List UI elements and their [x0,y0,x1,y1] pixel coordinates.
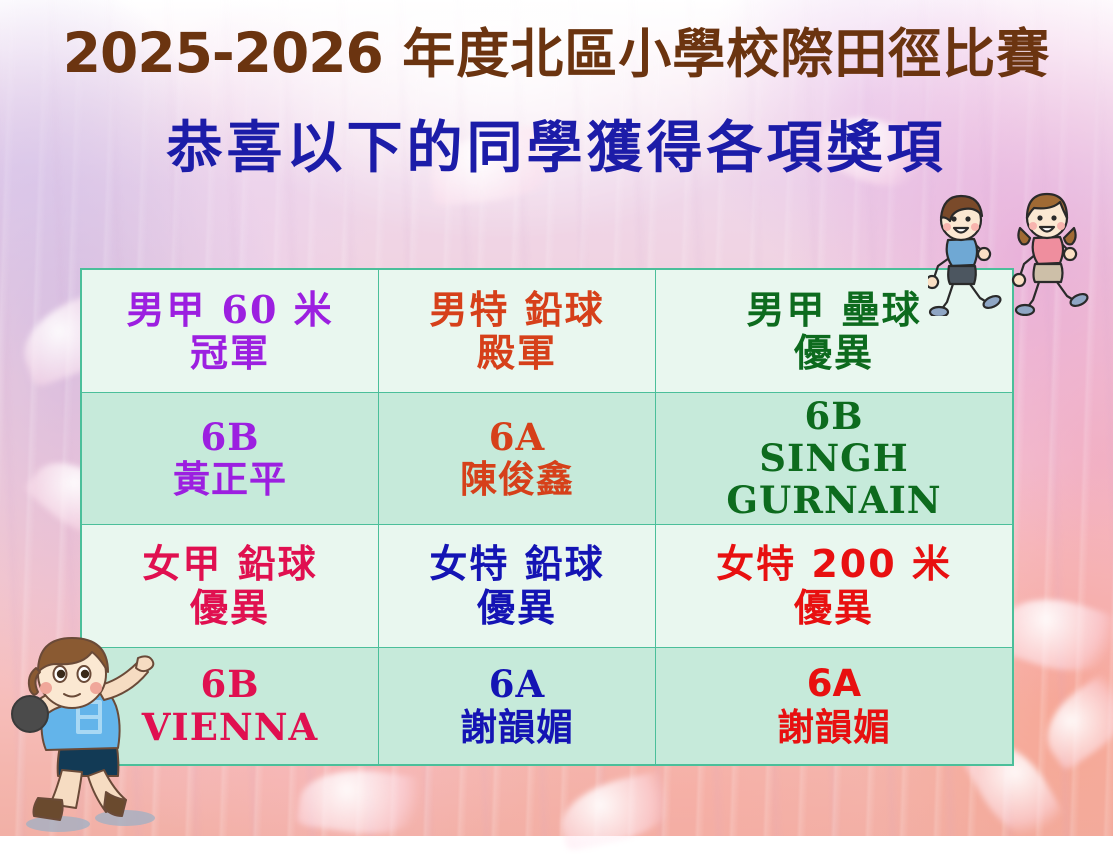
girl-runner-icon [1013,194,1089,315]
event-name-line: 女特 200 米 [660,542,1008,586]
student-class-line: 6A [383,663,651,705]
event-name-line: 女甲 鉛球 [86,542,374,585]
event-name-line: 男特 鉛球 [383,288,651,331]
event-name-line: 女特 鉛球 [383,542,651,585]
award-rank-line: 冠軍 [86,331,374,374]
award-rank-line: 殿軍 [383,331,651,374]
event-cell: 女特 鉛球優異 [379,524,656,647]
student-class-line: 6A [383,416,651,458]
student-name-line: SINGH GURNAIN [660,437,1008,521]
awards-table-body: 男甲 60 米冠軍 男特 鉛球殿軍 男甲 壘球優異 6B黃正平 6A陳俊鑫 6B… [81,269,1013,765]
winner-cell: 6A謝韻媚 [379,647,656,765]
awards-table: 男甲 60 米冠軍 男特 鉛球殿軍 男甲 壘球優異 6B黃正平 6A陳俊鑫 6B… [80,268,1014,766]
award-rank-line: 優異 [660,331,1008,374]
running-children-illustration [928,188,1113,316]
event-cell: 女特 200 米優異 [656,524,1014,647]
student-class-line: 6B [86,416,374,458]
award-rank-line: 優異 [660,586,1008,629]
table-row: 6B黃正平 6A陳俊鑫 6BSINGH GURNAIN [81,393,1013,525]
winner-cell: 6BSINGH GURNAIN [656,393,1014,525]
event-cell: 男甲 60 米冠軍 [81,269,379,393]
winner-cell: 6B黃正平 [81,393,379,525]
student-class-line: 6A [660,663,1008,705]
table-row: 男甲 60 米冠軍 男特 鉛球殿軍 男甲 壘球優異 [81,269,1013,393]
shot-put-boy-illustration: 13 [0,628,185,836]
table-row: 女甲 鉛球優異 女特 鉛球優異 女特 200 米優異 [81,524,1013,647]
student-name-line: 陳俊鑫 [383,458,651,500]
student-class-line: 6B [660,395,1008,437]
title-text: 年度北區小學校際田徑比賽 [383,23,1050,85]
page-subtitle: 恭喜以下的同學獲得各項獎項 [0,114,1113,182]
award-rank-line: 優異 [86,586,374,629]
event-distance-number: 200 [811,542,896,586]
student-name-line: 謝韻媚 [383,706,651,748]
winner-cell: 6A謝韻媚 [656,647,1014,765]
title-year: 2025-2026 [63,21,383,85]
page-title: 2025-2026 年度北區小學校際田徑比賽 [0,22,1113,85]
award-rank-line: 優異 [383,586,651,629]
boy-runner-icon [928,196,1002,316]
event-name-line: 男甲 60 米 [86,288,374,331]
winner-cell: 6A陳俊鑫 [379,393,656,525]
event-cell: 男特 鉛球殿軍 [379,269,656,393]
student-name-line: 謝韻媚 [660,706,1008,748]
student-name-line: 黃正平 [86,458,374,500]
table-row: 6BVIENNA 6A謝韻媚 6A謝韻媚 [81,647,1013,765]
